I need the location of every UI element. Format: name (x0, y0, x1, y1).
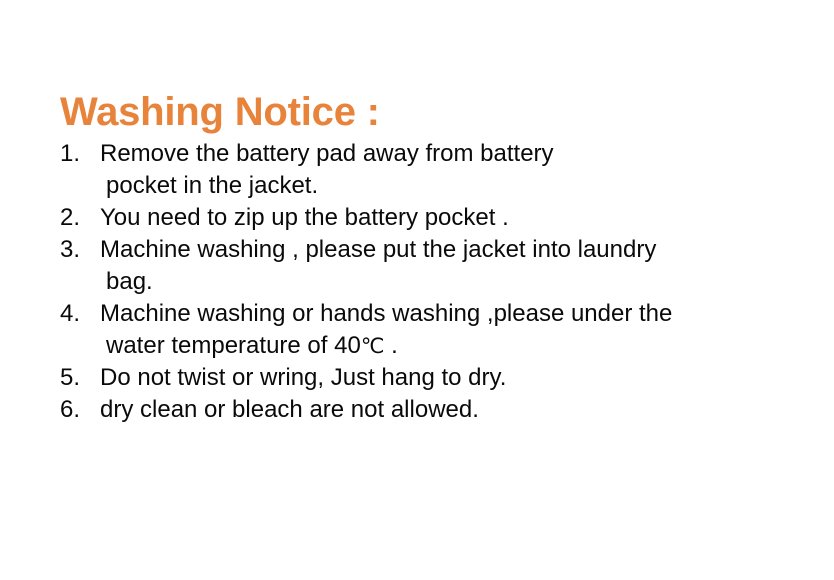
list-item-line-1: Machine washing , please put the jacket … (100, 236, 656, 263)
list-item-line-1: dry clean or bleach are not allowed. (100, 396, 479, 423)
list-item-text: Remove the battery pad away from battery… (100, 138, 800, 202)
water-temperature-label: water temperature of 40 (106, 332, 361, 359)
list-item-marker: 5. (60, 362, 100, 394)
list-item-text: dry clean or bleach are not allowed. (100, 394, 800, 426)
list-item: 3. Machine washing , please put the jack… (60, 234, 800, 298)
list-item-marker: 1. (60, 138, 100, 170)
line-2-suffix: . (384, 332, 397, 359)
list-item-text: You need to zip up the battery pocket . (100, 202, 800, 234)
list-item-line-1: You need to zip up the battery pocket . (100, 204, 509, 231)
list-item: 4. Machine washing or hands washing ,ple… (60, 298, 800, 362)
list-item: 5. Do not twist or wring, Just hang to d… (60, 362, 800, 394)
celsius-unit: ℃ (361, 334, 385, 358)
list-item-line-2: bag. (100, 266, 800, 298)
list-item: 6. dry clean or bleach are not allowed. (60, 394, 800, 426)
washing-notice-sheet: Washing Notice : 1. Remove the battery p… (0, 0, 834, 580)
list-item-marker: 6. (60, 394, 100, 426)
list-item-line-1: Machine washing or hands washing ,please… (100, 300, 672, 327)
list-item-text: Machine washing or hands washing ,please… (100, 298, 800, 362)
washing-instructions-list: 1. Remove the battery pad away from batt… (60, 138, 800, 426)
list-item-line-1: Do not twist or wring, Just hang to dry. (100, 364, 506, 391)
list-item: 1. Remove the battery pad away from batt… (60, 138, 800, 202)
list-item-line-1: Remove the battery pad away from battery (100, 140, 554, 167)
list-item-line-2: water temperature of 40℃ . (100, 330, 800, 362)
list-item-marker: 4. (60, 298, 100, 330)
page-title: Washing Notice : (60, 89, 380, 135)
list-item-marker: 3. (60, 234, 100, 266)
list-item-text: Machine washing , please put the jacket … (100, 234, 800, 298)
list-item: 2. You need to zip up the battery pocket… (60, 202, 800, 234)
list-item-text: Do not twist or wring, Just hang to dry. (100, 362, 800, 394)
list-item-line-2: pocket in the jacket. (100, 170, 800, 202)
list-item-marker: 2. (60, 202, 100, 234)
